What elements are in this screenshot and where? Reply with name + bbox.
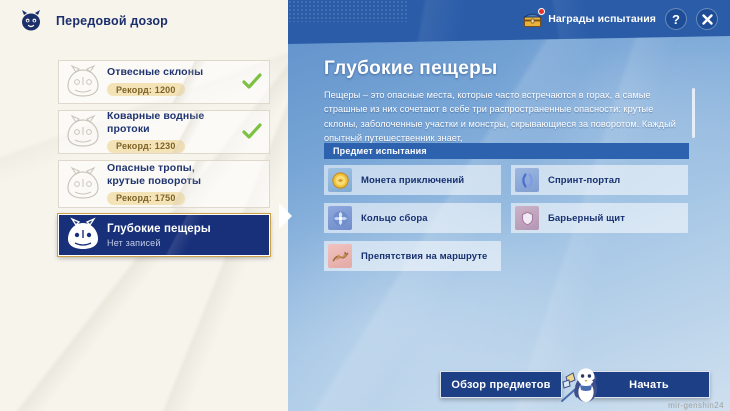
level-item-dangerous-paths[interactable]: Опасные тропы, крутые повороты Рекорд: 1… bbox=[58, 160, 270, 208]
level-name: Коварные водные протоки bbox=[107, 110, 235, 136]
level-name: Отвесные склоны bbox=[107, 66, 235, 79]
close-button[interactable] bbox=[696, 8, 718, 30]
trial-rewards-label: Награды испытания bbox=[548, 13, 656, 25]
trial-item-barrier-shield[interactable]: Барьерный щит bbox=[511, 203, 688, 233]
question-mark-icon: ? bbox=[672, 13, 680, 26]
trial-items-grid: Монета приключений Спринт-портал bbox=[324, 165, 689, 271]
help-button[interactable]: ? bbox=[665, 8, 687, 30]
items-overview-label: Обзор предметов bbox=[451, 379, 550, 391]
collection-ring-icon bbox=[328, 206, 352, 230]
level-info: Коварные водные протоки Рекорд: 1230 bbox=[103, 110, 235, 154]
stage-description: Пещеры – это опасные места, которые част… bbox=[324, 88, 686, 145]
stage-title: Глубокие пещеры bbox=[324, 58, 498, 80]
level-record-badge: Рекорд: 1750 bbox=[107, 192, 185, 205]
trial-item-label: Кольцо сбора bbox=[352, 213, 428, 224]
level-list: Отвесные склоны Рекорд: 1200 bbox=[58, 60, 270, 262]
challenge-selection-screen: Передовой дозор bbox=[0, 0, 730, 411]
level-name: Глубокие пещеры bbox=[107, 222, 269, 236]
level-name: Опасные тропы, крутые повороты bbox=[107, 162, 235, 188]
description-scrollbar[interactable] bbox=[692, 88, 695, 138]
page-title: Передовой дозор bbox=[56, 14, 168, 28]
notification-badge bbox=[538, 8, 545, 15]
trial-item-collection-ring[interactable]: Кольцо сбора bbox=[324, 203, 501, 233]
watermark: mir-genshin24 bbox=[668, 401, 724, 410]
items-overview-button[interactable]: Обзор предметов bbox=[440, 371, 562, 398]
penguin-mascot-icon bbox=[560, 363, 606, 409]
trial-item-adventure-coin[interactable]: Монета приключений bbox=[324, 165, 501, 195]
trial-item-label: Монета приключений bbox=[352, 175, 464, 186]
level-list-panel: Передовой дозор bbox=[0, 0, 288, 411]
level-item-steep-slopes[interactable]: Отвесные склоны Рекорд: 1200 bbox=[58, 60, 270, 104]
level-record-badge: Рекорд: 1200 bbox=[107, 83, 185, 96]
green-check-icon bbox=[235, 73, 269, 91]
adventure-coin-icon bbox=[328, 168, 352, 192]
cave-outline-icon bbox=[63, 165, 103, 203]
level-record-badge: Рекорд: 1230 bbox=[107, 140, 185, 153]
start-button[interactable]: Начать bbox=[588, 371, 710, 398]
level-item-water-channels[interactable]: Коварные водные протоки Рекорд: 1230 bbox=[58, 110, 270, 154]
trial-items-section-header: Предмет испытания bbox=[324, 143, 689, 159]
trial-items-section-title: Предмет испытания bbox=[333, 146, 427, 156]
cave-outline-icon bbox=[63, 113, 103, 151]
cave-outline-icon bbox=[63, 63, 103, 101]
level-item-deep-caves[interactable]: Глубокие пещеры Нет записей bbox=[58, 214, 270, 256]
panel-header: Передовой дозор bbox=[18, 8, 168, 34]
level-info: Глубокие пещеры Нет записей bbox=[103, 222, 269, 247]
level-no-record-text: Нет записей bbox=[107, 238, 269, 248]
trial-item-label: Спринт-портал bbox=[539, 175, 620, 186]
cat-crest-icon bbox=[18, 8, 44, 34]
cave-filled-icon bbox=[63, 216, 103, 254]
trial-item-label: Барьерный щит bbox=[539, 213, 625, 224]
close-x-icon bbox=[701, 13, 714, 26]
trial-item-route-obstacles[interactable]: Препятствия на маршруте bbox=[324, 241, 501, 271]
sprint-portal-icon bbox=[515, 168, 539, 192]
footer-bar: Обзор предметов Начать bbox=[288, 359, 730, 411]
green-check-icon bbox=[235, 123, 269, 141]
barrier-shield-icon bbox=[515, 206, 539, 230]
level-info: Отвесные склоны Рекорд: 1200 bbox=[103, 66, 235, 97]
start-label: Начать bbox=[629, 379, 669, 391]
trial-item-sprint-portal[interactable]: Спринт-портал bbox=[511, 165, 688, 195]
level-info: Опасные тропы, крутые повороты Рекорд: 1… bbox=[103, 162, 235, 206]
trial-item-label: Препятствия на маршруте bbox=[352, 251, 487, 262]
treasure-chest-icon bbox=[523, 11, 542, 28]
header-controls: Награды испытания ? bbox=[523, 8, 718, 30]
selection-pointer-icon bbox=[278, 203, 294, 229]
route-obstacle-icon bbox=[328, 244, 352, 268]
trial-rewards-button[interactable]: Награды испытания bbox=[523, 11, 656, 28]
